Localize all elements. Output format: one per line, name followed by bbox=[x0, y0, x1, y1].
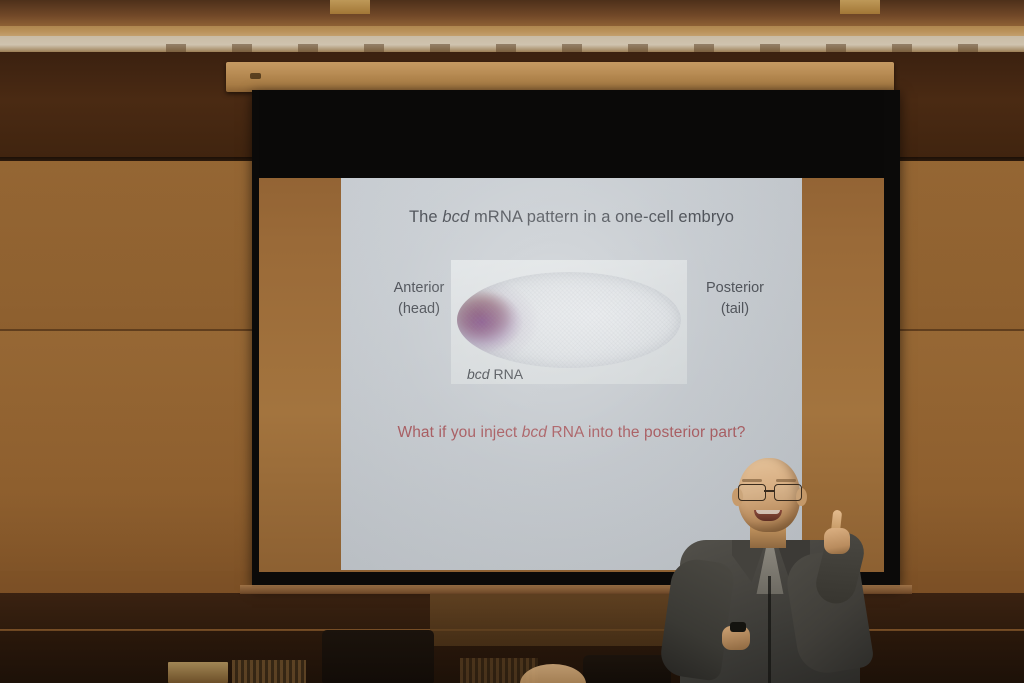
presenter-eyebrow-right bbox=[776, 479, 796, 482]
housing-screw-icon bbox=[250, 73, 261, 79]
embryo-caption-gene-name: bcd bbox=[467, 366, 490, 382]
ceiling-clip-left bbox=[330, 0, 370, 14]
question-prefix: What if you inject bbox=[397, 424, 521, 441]
ceiling bbox=[0, 0, 1024, 52]
glasses-lens-left bbox=[738, 484, 766, 501]
presenter-palm bbox=[824, 528, 850, 554]
posterior-label-line2: (tail) bbox=[680, 299, 790, 320]
glasses-bridge bbox=[764, 490, 774, 492]
posterior-label-line1: Posterior bbox=[680, 278, 790, 299]
slide-question-text: What if you inject bcd RNA into the post… bbox=[341, 424, 802, 442]
projector-screen-housing[interactable] bbox=[226, 62, 894, 92]
presenter-teeth bbox=[756, 510, 780, 514]
posterior-label: Posterior (tail) bbox=[680, 278, 790, 319]
chair-left[interactable] bbox=[322, 630, 434, 683]
presentation-remote[interactable] bbox=[730, 622, 746, 632]
embryo-caption: bcd RNA bbox=[467, 366, 523, 382]
slide-title-suffix: mRNA pattern in a one-cell embryo bbox=[469, 208, 734, 226]
slide-title-gene-name: bcd bbox=[442, 208, 469, 226]
embryo-caption-rest: RNA bbox=[490, 366, 523, 382]
embryo-micrograph: bcd RNA bbox=[451, 260, 687, 384]
presenter-pointing-hand bbox=[820, 510, 852, 554]
glasses-icon bbox=[736, 484, 802, 499]
desk-equipment-panel bbox=[232, 660, 306, 683]
presenter[interactable] bbox=[672, 448, 892, 683]
lecture-hall-photo: The bcd mRNA pattern in a one-cell embry… bbox=[0, 0, 1024, 683]
screen-border-left bbox=[252, 90, 259, 587]
slide-title-prefix: The bbox=[409, 208, 442, 226]
question-suffix: RNA into the posterior part? bbox=[547, 424, 745, 441]
ceiling-clip-right bbox=[840, 0, 880, 14]
glasses-lens-right bbox=[774, 484, 802, 501]
presenter-jacket-zipper bbox=[768, 576, 771, 683]
embryo-texture-overlay bbox=[457, 272, 681, 368]
presenter-eyebrow-left bbox=[742, 479, 762, 482]
slide-title: The bcd mRNA pattern in a one-cell embry… bbox=[341, 208, 802, 227]
screen-border-top bbox=[252, 90, 900, 178]
whiteboard-ledge bbox=[430, 594, 670, 646]
desk-item-book bbox=[168, 662, 228, 683]
drosophila-embryo-image bbox=[457, 272, 681, 368]
chair-right[interactable] bbox=[583, 655, 671, 683]
question-gene-name: bcd bbox=[522, 424, 547, 441]
